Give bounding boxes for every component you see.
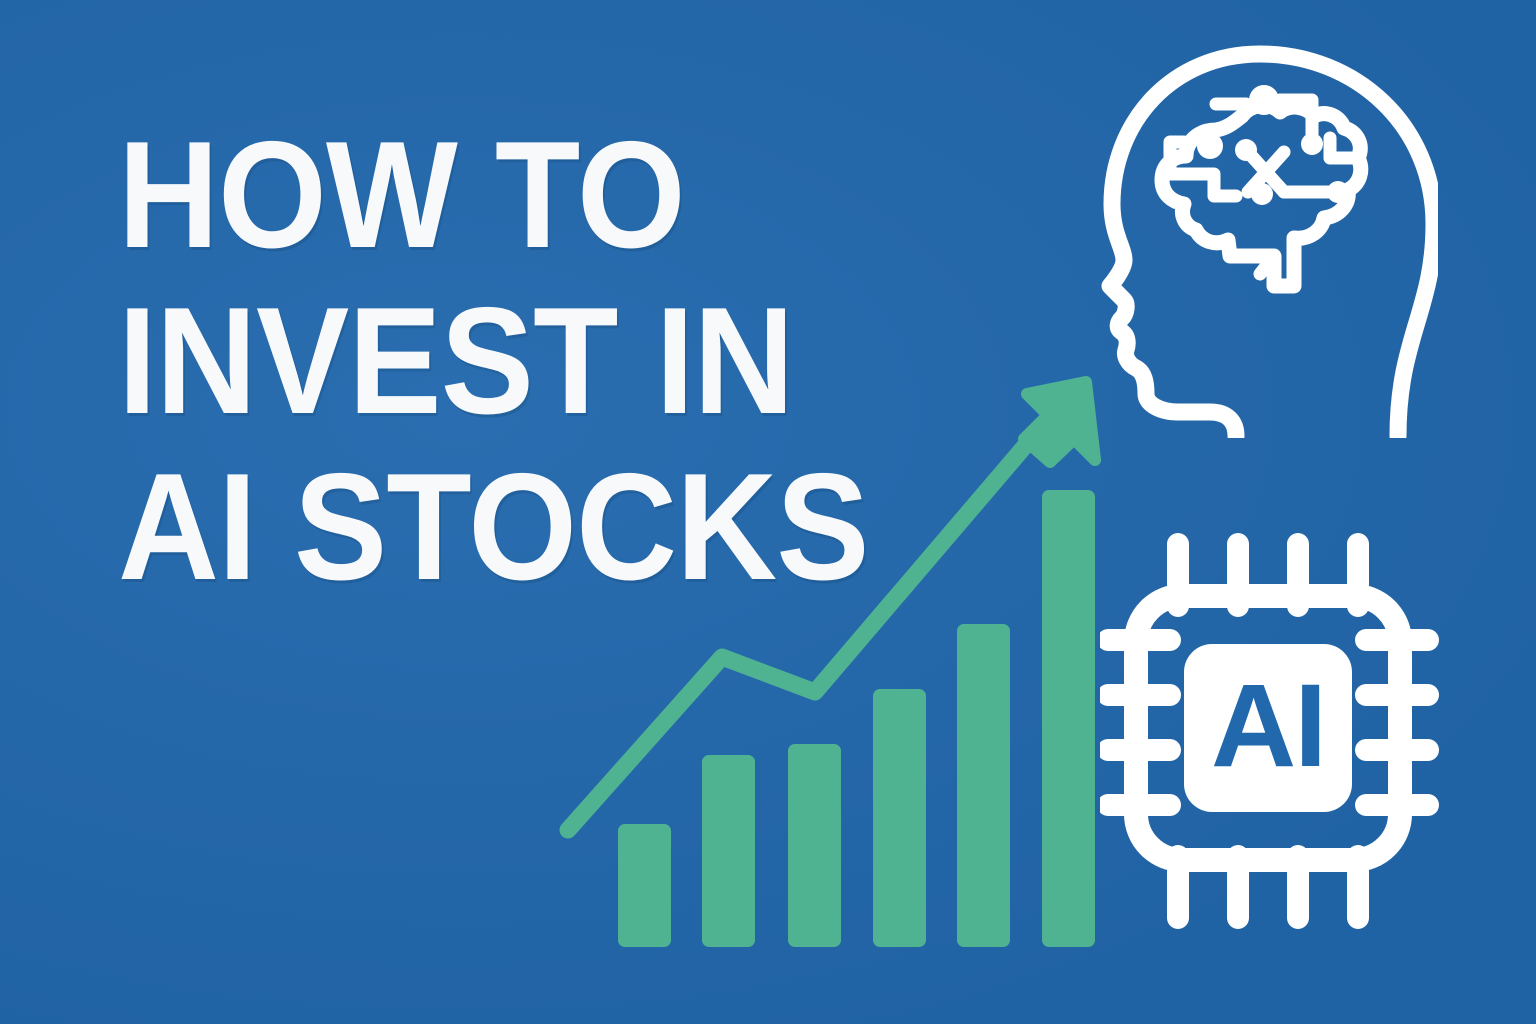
- headline-line-3: AI STOCKS: [118, 444, 869, 610]
- node-mid-lower: [1251, 183, 1273, 205]
- headline-line-1: HOW TO: [118, 112, 869, 278]
- node-left: [1197, 133, 1223, 159]
- page-title: HOW TO INVEST IN AI STOCKS: [118, 112, 934, 610]
- trace-right-branch: [1330, 138, 1352, 158]
- chip-ai-label: AI: [1211, 660, 1325, 792]
- bar-5: [957, 624, 1010, 947]
- bar-6: [1042, 490, 1095, 947]
- node-mid-upper: [1235, 139, 1257, 161]
- node-right-lower: [1327, 181, 1349, 203]
- head-brain-svg: [1098, 38, 1438, 438]
- bar-2: [702, 755, 755, 947]
- node-top: [1249, 85, 1279, 115]
- node-right-upper: [1301, 133, 1323, 155]
- ai-chip-svg: AI: [1100, 520, 1470, 940]
- head-brain-graphic: [1098, 38, 1438, 438]
- arrowhead-icon: [1024, 382, 1095, 462]
- bar-1: [618, 824, 671, 947]
- poster-canvas: AI: [0, 0, 1536, 1024]
- bar-4: [873, 689, 926, 947]
- headline-line-2: INVEST IN: [118, 278, 869, 444]
- bar-3: [788, 744, 841, 947]
- ai-chip-graphic: AI: [1100, 520, 1470, 940]
